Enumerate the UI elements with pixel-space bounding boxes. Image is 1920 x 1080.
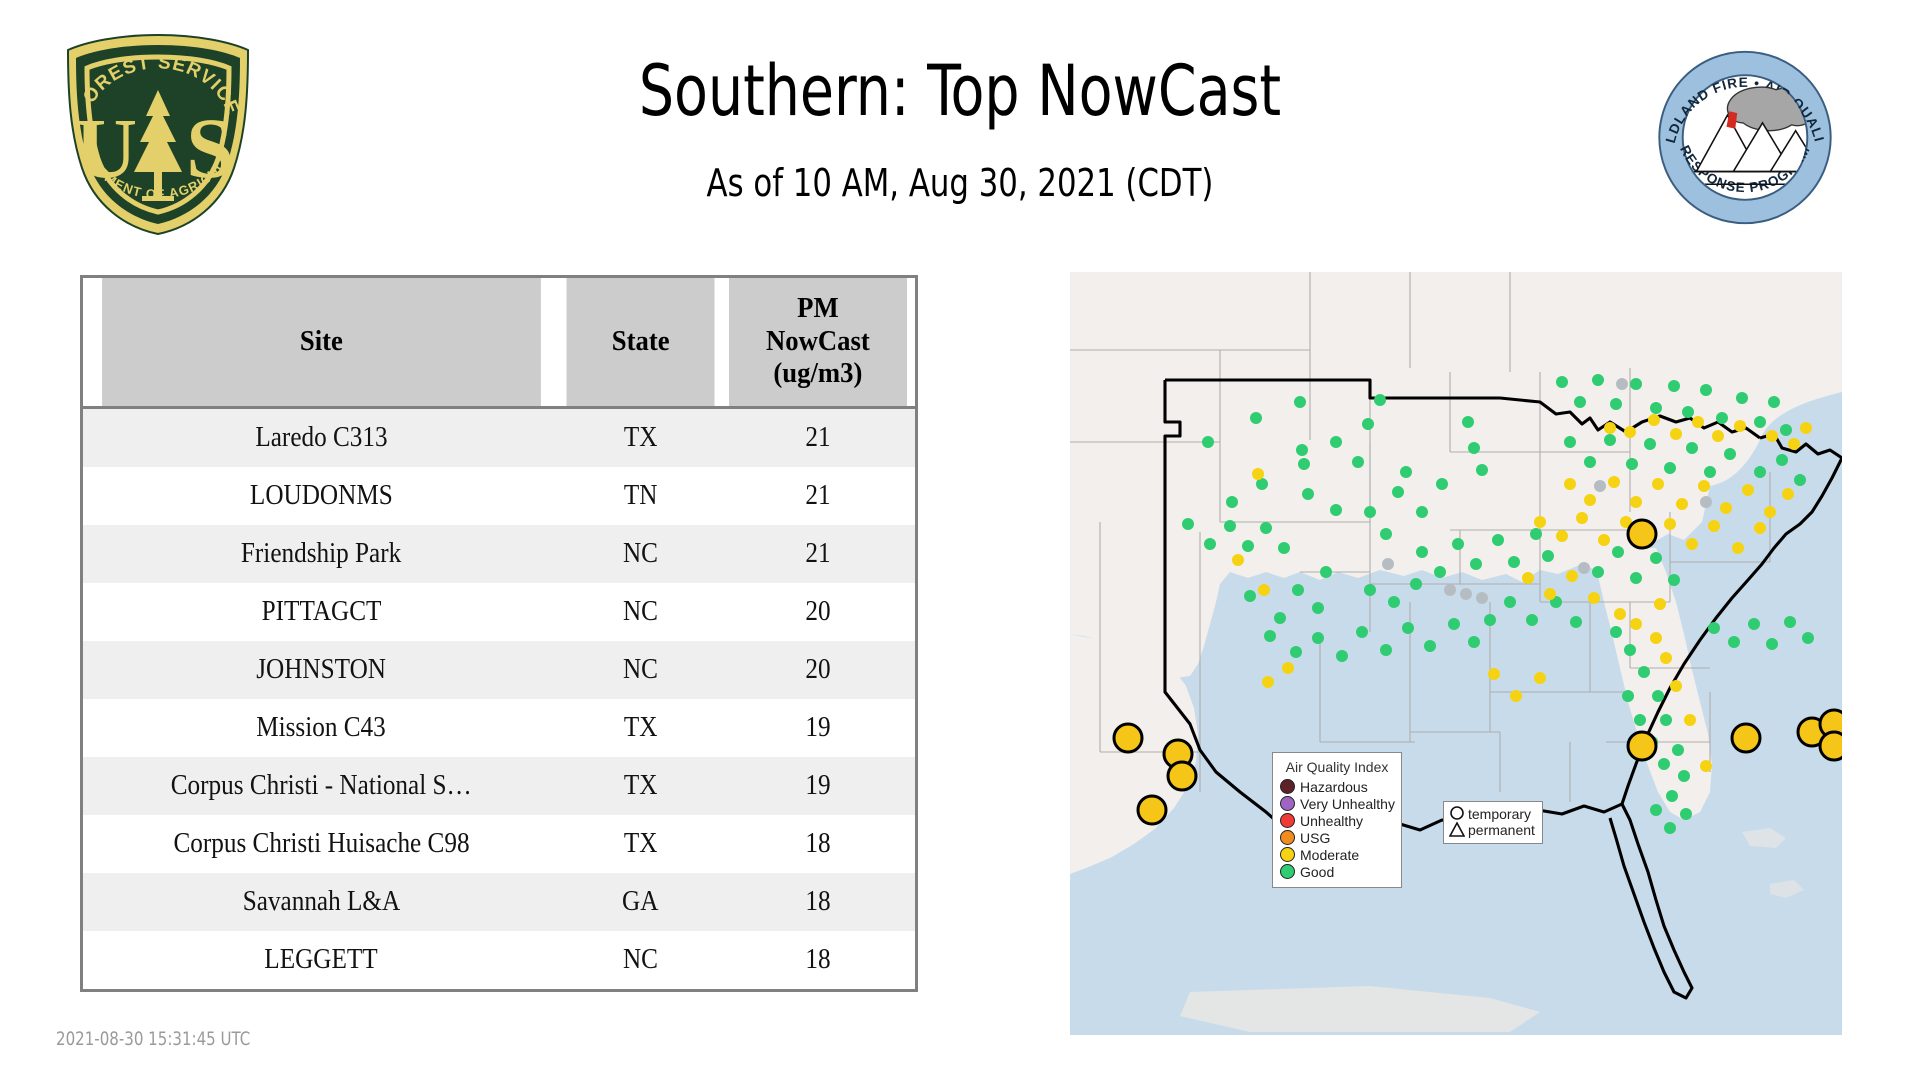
table-header-row: Site State PM NowCast (ug/m3) bbox=[83, 278, 915, 408]
site-cell: Laredo C313 bbox=[83, 408, 560, 468]
pm-nowcast-cell: 21 bbox=[721, 408, 915, 468]
state-cell: NC bbox=[560, 583, 721, 641]
marker-laredo-c313 bbox=[1114, 724, 1142, 752]
aqi-legend-label: Moderate bbox=[1300, 848, 1359, 862]
site-cell: PITTAGCT bbox=[83, 583, 560, 641]
pm-nowcast-cell-label: 20 bbox=[806, 654, 831, 686]
state-cell-label: TX bbox=[624, 712, 658, 744]
aqi-legend-item: Moderate bbox=[1280, 846, 1394, 863]
site-cell: JOHNSTON bbox=[83, 641, 560, 699]
pm-nowcast-cell: 18 bbox=[721, 931, 915, 989]
state-cell-label: NC bbox=[623, 944, 658, 976]
wildland-fire-air-quality-logo: WILDLAND FIRE • AIR QUALITY RESPONSE PRO… bbox=[1645, 45, 1845, 230]
site-cell-label: Mission C43 bbox=[257, 712, 387, 744]
state-cell-label: TX bbox=[624, 770, 658, 802]
site-type-label-temporary: temporary bbox=[1468, 806, 1535, 822]
svg-text:U: U bbox=[75, 100, 137, 196]
state-cell: TN bbox=[560, 467, 721, 525]
state-cell: TX bbox=[560, 815, 721, 873]
marker-leggett bbox=[1732, 724, 1760, 752]
state-cell: NC bbox=[560, 641, 721, 699]
state-cell: NC bbox=[560, 931, 721, 989]
column-header-pm-line2: NowCast bbox=[733, 325, 904, 357]
site-type-glyphs bbox=[1449, 805, 1465, 839]
aqi-legend-label: Very Unhealthy bbox=[1300, 797, 1395, 811]
temporary-circle-icon bbox=[1451, 807, 1463, 819]
table-header: Site State PM NowCast (ug/m3) bbox=[83, 278, 915, 408]
column-header-pm-line3: (ug/m3) bbox=[733, 357, 904, 389]
footer-timestamp: 2021-08-30 15:31:45 UTC bbox=[56, 1028, 250, 1050]
site-cell: LOUDONMS bbox=[83, 467, 560, 525]
site-type-legend: temporary permanent bbox=[1443, 801, 1543, 844]
table-row[interactable]: Savannah L&AGA18 bbox=[83, 873, 915, 931]
pm-nowcast-cell-label: 21 bbox=[806, 480, 831, 512]
aqi-legend-dot-icon bbox=[1280, 847, 1295, 862]
southern-region-aqi-map[interactable] bbox=[1070, 272, 1842, 1035]
site-cell: LEGGETT bbox=[83, 931, 560, 989]
table-row[interactable]: Mission C43TX19 bbox=[83, 699, 915, 757]
pm-nowcast-cell-label: 18 bbox=[806, 828, 831, 860]
aqi-legend-label: Good bbox=[1300, 865, 1334, 879]
table-row[interactable]: LEGGETTNC18 bbox=[83, 931, 915, 989]
table-row[interactable]: PITTAGCTNC20 bbox=[83, 583, 915, 641]
pm-nowcast-cell: 18 bbox=[721, 873, 915, 931]
table-row[interactable]: JOHNSTONNC20 bbox=[83, 641, 915, 699]
column-header-pm-line1: PM bbox=[733, 292, 904, 324]
site-cell-label: Laredo C313 bbox=[255, 422, 387, 454]
pm-nowcast-cell: 21 bbox=[721, 525, 915, 583]
column-header-pm-nowcast: PM NowCast (ug/m3) bbox=[729, 278, 907, 408]
page-header: FOREST SERVICE DEPARTMENT OF AGRICULTURE… bbox=[0, 0, 1920, 270]
site-type-label-permanent: permanent bbox=[1468, 822, 1535, 838]
aqi-legend-label: Unhealthy bbox=[1300, 814, 1363, 828]
marker-corpus-christi-huisache-c98 bbox=[1168, 762, 1196, 790]
page-title: Southern: Top NowCast bbox=[379, 55, 1541, 129]
aqi-legend-item: Good bbox=[1280, 863, 1394, 880]
marker-loudonms bbox=[1628, 520, 1656, 548]
state-cell: TX bbox=[560, 757, 721, 815]
state-cell-label: NC bbox=[623, 538, 658, 570]
state-cell-label: TX bbox=[624, 828, 658, 860]
state-cell: NC bbox=[560, 525, 721, 583]
map-canvas[interactable] bbox=[1070, 272, 1842, 1035]
aqi-legend-item: USG bbox=[1280, 829, 1394, 846]
site-cell-label: Corpus Christi - National S… bbox=[171, 770, 472, 802]
aqi-legend-dot-icon bbox=[1280, 830, 1295, 845]
table-row[interactable]: Corpus Christi Huisache C98TX18 bbox=[83, 815, 915, 873]
pm-nowcast-cell: 19 bbox=[721, 757, 915, 815]
state-cell: TX bbox=[560, 699, 721, 757]
permanent-triangle-icon bbox=[1450, 823, 1464, 836]
aqi-legend: Air Quality Index HazardousVery Unhealth… bbox=[1272, 752, 1402, 888]
svg-text:S: S bbox=[186, 100, 234, 196]
pm-nowcast-cell-label: 21 bbox=[806, 422, 831, 454]
top-nowcast-table: Site State PM NowCast (ug/m3) Laredo C31… bbox=[83, 278, 915, 989]
column-header-state-label: State bbox=[612, 325, 670, 357]
column-header-site: Site bbox=[102, 278, 541, 408]
aqi-legend-rows: HazardousVery UnhealthyUnhealthyUSGModer… bbox=[1280, 778, 1394, 880]
usda-forest-service-shield-logo: FOREST SERVICE DEPARTMENT OF AGRICULTURE… bbox=[58, 32, 258, 237]
top-nowcast-table-panel: Site State PM NowCast (ug/m3) Laredo C31… bbox=[80, 275, 918, 992]
site-cell-label: Corpus Christi Huisache C98 bbox=[173, 828, 469, 860]
marker-johnston bbox=[1820, 732, 1842, 760]
aqi-legend-item: Unhealthy bbox=[1280, 812, 1394, 829]
marker-savannah-la bbox=[1628, 732, 1656, 760]
site-cell-label: PITTAGCT bbox=[261, 596, 381, 628]
state-cell-label: TN bbox=[624, 480, 658, 512]
site-cell: Savannah L&A bbox=[83, 873, 560, 931]
pm-nowcast-cell: 18 bbox=[721, 815, 915, 873]
pm-nowcast-cell: 20 bbox=[721, 641, 915, 699]
marker-mission-c43 bbox=[1138, 796, 1166, 824]
site-cell: Corpus Christi Huisache C98 bbox=[83, 815, 560, 873]
site-cell: Friendship Park bbox=[83, 525, 560, 583]
aqi-legend-dot-icon bbox=[1280, 813, 1295, 828]
aqi-legend-dot-icon bbox=[1280, 779, 1295, 794]
column-header-site-label: Site bbox=[300, 325, 343, 357]
state-cell-label: TX bbox=[624, 422, 658, 454]
table-row[interactable]: Friendship ParkNC21 bbox=[83, 525, 915, 583]
pm-nowcast-cell: 19 bbox=[721, 699, 915, 757]
state-cell-label: GA bbox=[622, 886, 658, 918]
state-cell-label: NC bbox=[623, 654, 658, 686]
pm-nowcast-cell: 20 bbox=[721, 583, 915, 641]
site-cell-label: Savannah L&A bbox=[243, 886, 400, 918]
site-type-legend-labels: temporary permanent bbox=[1468, 806, 1535, 838]
state-cell: GA bbox=[560, 873, 721, 931]
aqi-legend-item: Hazardous bbox=[1280, 778, 1394, 795]
pm-nowcast-cell-label: 18 bbox=[806, 886, 831, 918]
aqi-legend-title: Air Quality Index bbox=[1280, 759, 1394, 775]
site-cell: Corpus Christi - National S… bbox=[83, 757, 560, 815]
site-cell-label: LOUDONMS bbox=[250, 480, 393, 512]
site-cell-label: LEGGETT bbox=[265, 944, 378, 976]
site-cell-label: JOHNSTON bbox=[257, 654, 387, 686]
pm-nowcast-cell-label: 18 bbox=[806, 944, 831, 976]
title-block: Southern: Top NowCast As of 10 AM, Aug 3… bbox=[300, 55, 1620, 205]
table-row[interactable]: Laredo C313TX21 bbox=[83, 408, 915, 468]
aqi-legend-label: Hazardous bbox=[1300, 780, 1368, 794]
column-header-state: State bbox=[566, 278, 715, 408]
site-cell: Mission C43 bbox=[83, 699, 560, 757]
aqi-legend-label: USG bbox=[1300, 831, 1330, 845]
pm-nowcast-cell-label: 21 bbox=[806, 538, 831, 570]
table-body: Laredo C313TX21LOUDONMSTN21Friendship Pa… bbox=[83, 408, 915, 990]
table-row[interactable]: Corpus Christi - National S…TX19 bbox=[83, 757, 915, 815]
pm-nowcast-cell-label: 19 bbox=[806, 712, 831, 744]
pm-nowcast-cell-label: 19 bbox=[806, 770, 831, 802]
pm-nowcast-cell: 21 bbox=[721, 467, 915, 525]
page-subtitle: As of 10 AM, Aug 30, 2021 (CDT) bbox=[366, 161, 1554, 205]
state-cell: TX bbox=[560, 408, 721, 468]
table-row[interactable]: LOUDONMSTN21 bbox=[83, 467, 915, 525]
pm-nowcast-cell-label: 20 bbox=[806, 596, 831, 628]
aqi-legend-dot-icon bbox=[1280, 796, 1295, 811]
aqi-legend-item: Very Unhealthy bbox=[1280, 795, 1394, 812]
site-cell-label: Friendship Park bbox=[241, 538, 401, 570]
aqi-legend-dot-icon bbox=[1280, 864, 1295, 879]
state-cell-label: NC bbox=[623, 596, 658, 628]
